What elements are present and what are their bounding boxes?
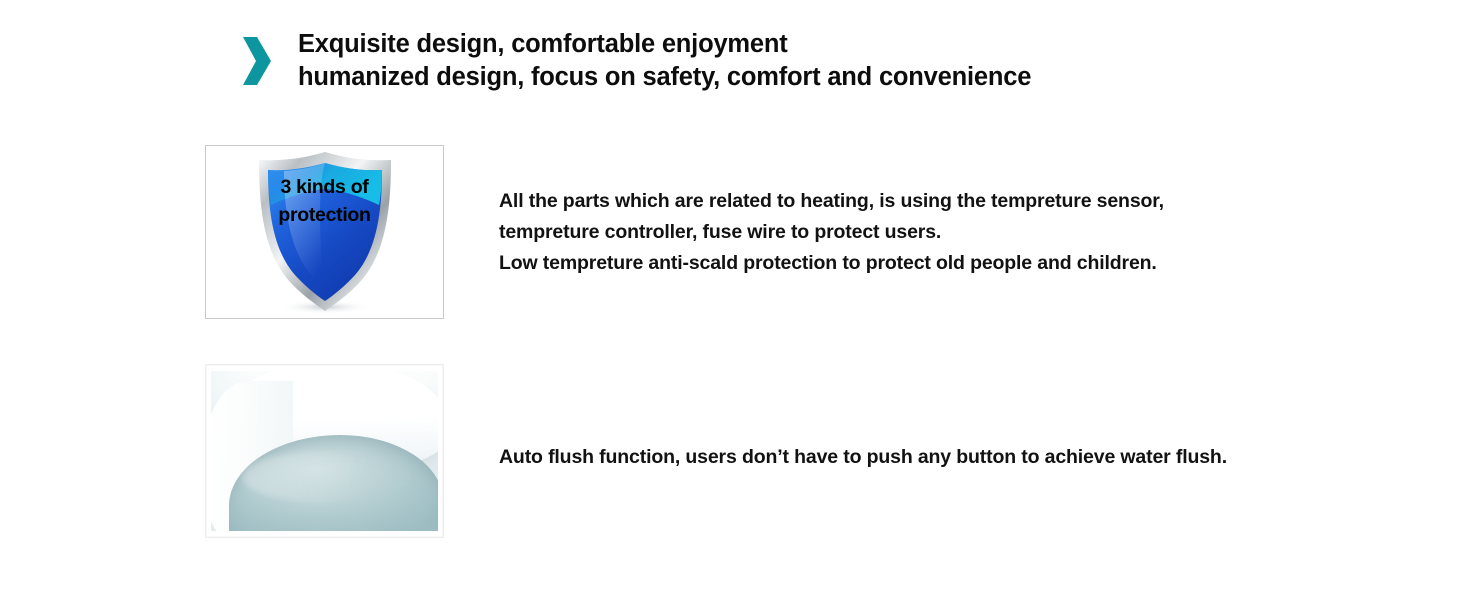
- protection-text-line-2: tempreture controller, fuse wire to prot…: [499, 217, 1164, 248]
- shield-caption-line-2: protection: [250, 201, 400, 229]
- header-line-2: humanized design, focus on safety, comfo…: [298, 61, 1031, 94]
- chevron-right-icon: [243, 36, 271, 86]
- shield-caption: 3 kinds of protection: [250, 173, 400, 229]
- header-text-block: Exquisite design, comfortable enjoyment …: [298, 28, 1031, 94]
- shield-icon: 3 kinds of protection: [250, 149, 400, 315]
- autoflush-text-line-1: Auto flush function, users don’t have to…: [499, 442, 1227, 473]
- feature-row-protection: 3 kinds of protection All the parts whic…: [205, 145, 1164, 319]
- page-header: Exquisite design, comfortable enjoyment …: [243, 28, 1031, 94]
- autoflush-image-frame: [205, 364, 444, 538]
- toilet-bowl-photo: [211, 371, 438, 531]
- feature-row-autoflush: Auto flush function, users don’t have to…: [205, 364, 1227, 538]
- protection-image-frame: 3 kinds of protection: [205, 145, 444, 319]
- header-line-1: Exquisite design, comfortable enjoyment: [298, 28, 1031, 61]
- protection-text-line-3: Low tempreture anti-scald protection to …: [499, 248, 1164, 279]
- protection-description: All the parts which are related to heati…: [499, 186, 1164, 279]
- protection-text-line-1: All the parts which are related to heati…: [499, 186, 1164, 217]
- autoflush-description: Auto flush function, users don’t have to…: [499, 442, 1227, 473]
- shield-caption-line-1: 3 kinds of: [250, 173, 400, 201]
